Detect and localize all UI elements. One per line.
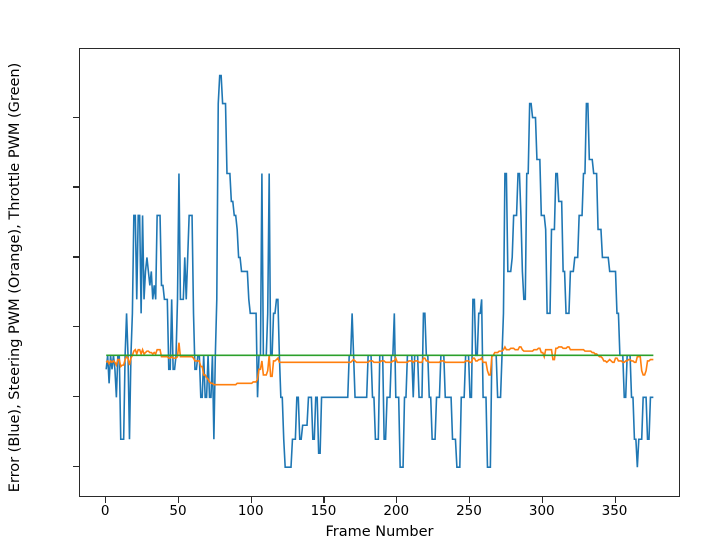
x-tick-mark	[469, 497, 470, 503]
y-tick-mark	[73, 256, 79, 257]
plot-axes-area	[79, 48, 680, 497]
x-tick-label: 0	[101, 503, 110, 519]
y-tick-mark	[73, 396, 79, 397]
x-tick-label: 150	[311, 503, 337, 519]
chart-svg	[80, 49, 681, 498]
x-tick-label: 250	[456, 503, 482, 519]
x-tick-mark	[542, 497, 543, 503]
y-tick-mark	[73, 466, 79, 467]
x-tick-label: 100	[238, 503, 264, 519]
x-tick-mark	[105, 497, 106, 503]
x-axis-label: Frame Number	[79, 524, 680, 540]
x-tick-label: 350	[602, 503, 628, 519]
x-tick-mark	[178, 497, 179, 503]
y-tick-mark	[73, 186, 79, 187]
x-tick-label: 300	[529, 503, 555, 519]
y-axis-label: Error (Blue), Steering PWM (Orange), Thr…	[0, 0, 30, 555]
error-series-line	[106, 76, 653, 468]
x-tick-mark	[396, 497, 397, 503]
x-tick-label: 200	[383, 503, 409, 519]
x-tick-mark	[251, 497, 252, 503]
matplotlib-figure: Error (Blue), Steering PWM (Orange), Thr…	[0, 0, 708, 555]
x-tick-mark	[323, 497, 324, 503]
x-tick-label: 50	[169, 503, 186, 519]
y-tick-mark	[73, 326, 79, 327]
x-tick-mark	[615, 497, 616, 503]
y-tick-mark	[73, 117, 79, 118]
